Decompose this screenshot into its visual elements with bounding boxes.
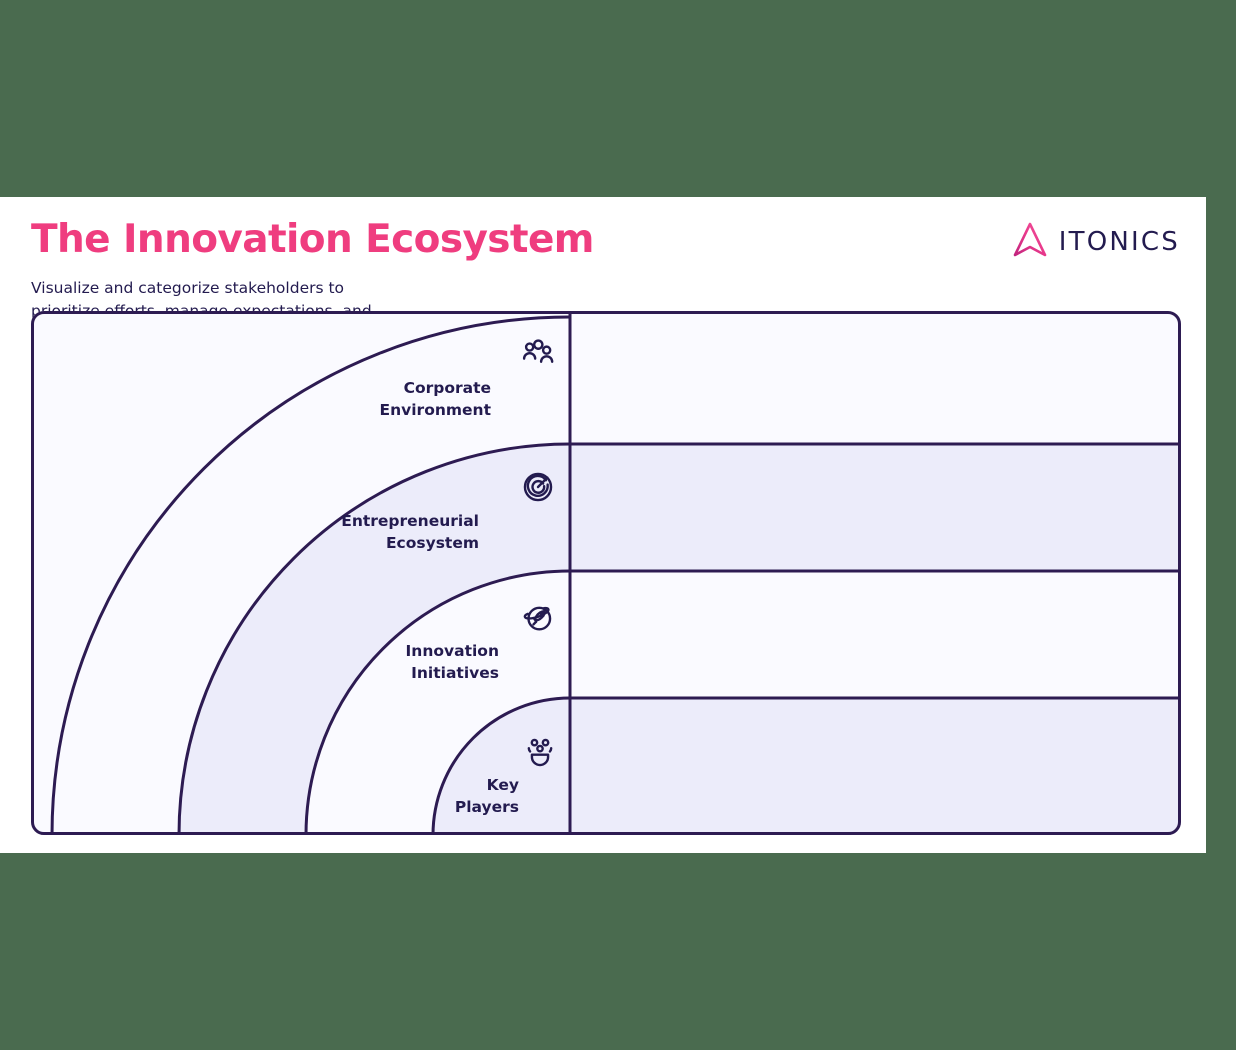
rocket-planet-icon	[523, 601, 557, 635]
itonics-logo: ITONICS	[1013, 222, 1180, 262]
itonics-arrow-mark-icon	[1013, 222, 1047, 262]
innovation-ecosystem-diagram: Corporate Environment Entrepreneurial Ec…	[31, 311, 1181, 838]
users-circle-icon	[523, 734, 557, 768]
page-title: The Innovation Ecosystem	[31, 217, 594, 262]
itonics-wordmark: ITONICS	[1059, 229, 1180, 255]
people-group-icon	[521, 337, 555, 371]
infographic-card: The Innovation Ecosystem Visualize and c…	[0, 197, 1206, 853]
target-spiral-icon	[521, 470, 555, 504]
